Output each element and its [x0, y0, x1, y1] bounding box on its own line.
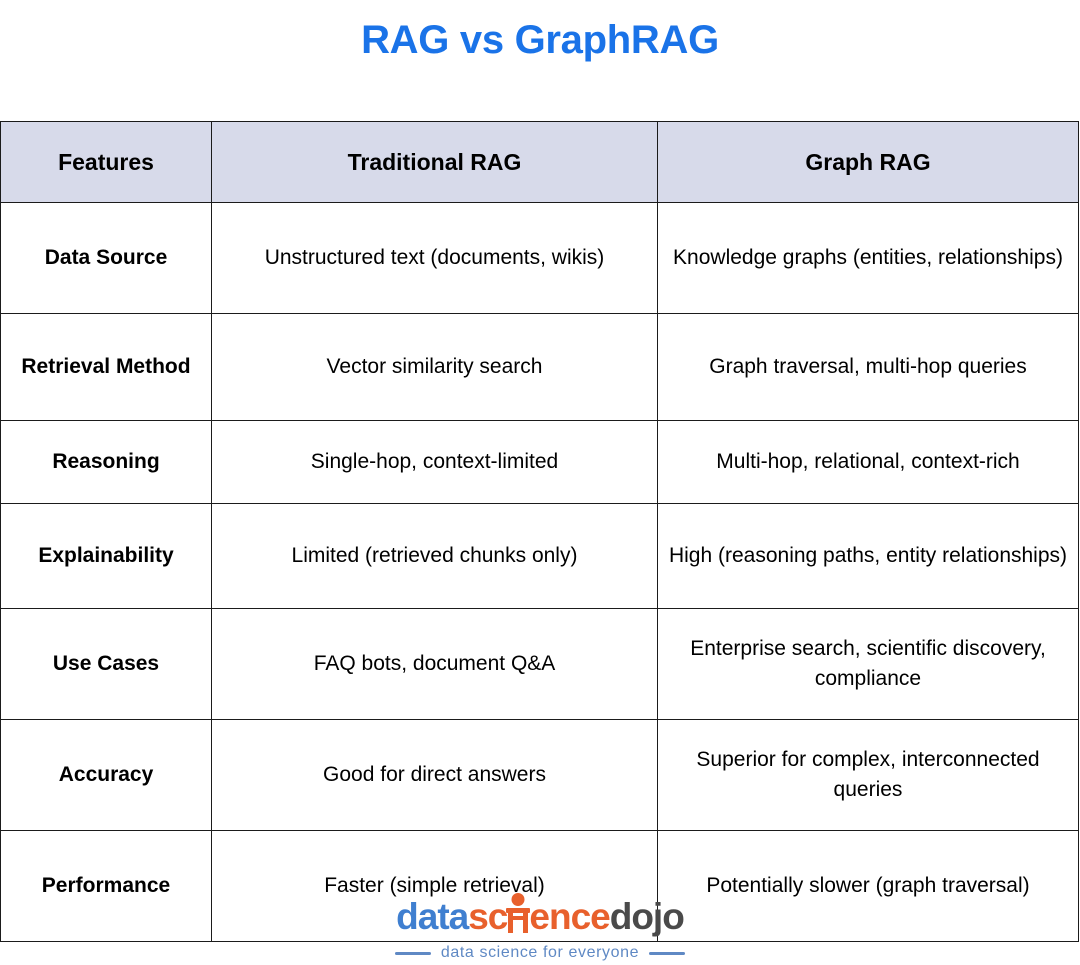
table-header: Features Traditional RAG Graph RAG: [1, 122, 1079, 203]
traditional-rag-cell: Good for direct answers: [212, 720, 658, 831]
logo-text-ence: ence: [529, 896, 609, 937]
graph-rag-cell: High (reasoning paths, entity relationsh…: [658, 504, 1079, 609]
traditional-rag-cell: Unstructured text (documents, wikis): [212, 203, 658, 314]
tagline-rule-right: [649, 952, 685, 955]
table-header-row: Features Traditional RAG Graph RAG: [1, 122, 1079, 203]
table-row: Explainability Limited (retrieved chunks…: [1, 504, 1079, 609]
feature-label: Use Cases: [1, 609, 212, 720]
feature-label: Accuracy: [1, 720, 212, 831]
feature-label: Data Source: [1, 203, 212, 314]
table-row: Reasoning Single-hop, context-limited Mu…: [1, 421, 1079, 504]
page-title: RAG vs GraphRAG: [0, 14, 1080, 66]
logo-tagline-row: data science for everyone: [0, 944, 1080, 962]
tagline-rule-left: [395, 952, 431, 955]
table-row: Data Source Unstructured text (documents…: [1, 203, 1079, 314]
graph-rag-cell: Superior for complex, interconnected que…: [658, 720, 1079, 831]
traditional-rag-cell: Vector similarity search: [212, 314, 658, 421]
footer-logo: datascencedojo data science for everyone: [0, 896, 1080, 962]
logo-tagline: data science for everyone: [441, 944, 639, 962]
column-header-traditional-rag: Traditional RAG: [212, 122, 658, 203]
torii-gate-icon: [506, 903, 530, 933]
logo-text-sc: sc: [468, 896, 507, 937]
column-header-graph-rag: Graph RAG: [658, 122, 1079, 203]
logo-text-dojo: dojo: [610, 896, 684, 937]
graph-rag-cell: Graph traversal, multi-hop queries: [658, 314, 1079, 421]
traditional-rag-cell: FAQ bots, document Q&A: [212, 609, 658, 720]
feature-label: Retrieval Method: [1, 314, 212, 421]
traditional-rag-cell: Limited (retrieved chunks only): [212, 504, 658, 609]
table-body: Data Source Unstructured text (documents…: [1, 203, 1079, 942]
graph-rag-cell: Multi-hop, relational, context-rich: [658, 421, 1079, 504]
table-row: Accuracy Good for direct answers Superio…: [1, 720, 1079, 831]
table-row: Use Cases FAQ bots, document Q&A Enterpr…: [1, 609, 1079, 720]
table-row: Retrieval Method Vector similarity searc…: [1, 314, 1079, 421]
graph-rag-cell: Enterprise search, scientific discovery,…: [658, 609, 1079, 720]
traditional-rag-cell: Single-hop, context-limited: [212, 421, 658, 504]
feature-label: Reasoning: [1, 421, 212, 504]
feature-label: Explainability: [1, 504, 212, 609]
datasciencedojo-logo: datascencedojo: [396, 896, 684, 938]
graph-rag-cell: Knowledge graphs (entities, relationship…: [658, 203, 1079, 314]
comparison-table: Features Traditional RAG Graph RAG Data …: [0, 121, 1079, 942]
column-header-features: Features: [1, 122, 212, 203]
logo-text-data: data: [396, 896, 468, 937]
